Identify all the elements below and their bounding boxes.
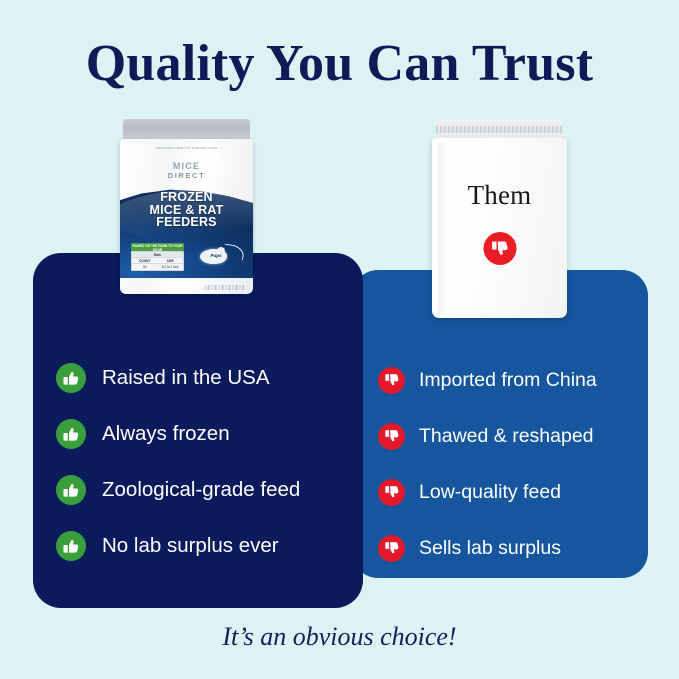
competitor-product-bag: Them: [432, 120, 567, 318]
brand-product-bag: CERTIFIED HEALTHY FOR REPTILES MICE DIRE…: [120, 119, 253, 294]
list-item: Zoological-grade feed: [56, 462, 356, 518]
list-item: Sells lab surplus: [378, 520, 648, 576]
infographic-canvas: Quality You Can Trust CERTIFIED HEALTHY …: [0, 0, 679, 679]
mouse-illustration: Pups: [196, 243, 244, 269]
bag-seal: [123, 119, 250, 141]
bag-spec-value-row: 50 1/2 to 1 inch: [132, 264, 183, 269]
competitor-bag-body: Them: [432, 138, 567, 318]
bag-product-line-1: FROZEN: [120, 191, 253, 204]
bag-spec-col-2: SIZE: [158, 259, 184, 263]
bag-spec-val-1: 50: [132, 265, 158, 269]
bag-product-line-3: FEEDERS: [120, 216, 253, 229]
thumbs-up-icon: [56, 419, 86, 449]
bag-product-name: FROZEN MICE & RAT FEEDERS: [120, 191, 253, 229]
bag-spec-table: Rats COUNT SIZE 50 1/2 to 1 inch: [131, 251, 184, 271]
bag-top-small-print: CERTIFIED HEALTHY FOR REPTILES: [120, 146, 253, 150]
barcode-icon: [204, 285, 244, 290]
bag-spec-col-1: COUNT: [132, 259, 158, 263]
footer-tagline: It’s an obvious choice!: [0, 622, 679, 652]
brand-feature-list: Raised in the USA Always frozen Zoologic…: [56, 350, 356, 574]
thumbs-down-icon: [378, 535, 405, 562]
bag-spec-val-2: 1/2 to 1 inch: [158, 265, 184, 269]
competitor-feature-list: Imported from China Thawed & reshaped Lo…: [378, 352, 648, 576]
bag-green-label: RAISED ON THE FARM TO YOUR DOOR: [131, 243, 184, 251]
brand-logo-line-2: DIRECT: [120, 171, 253, 180]
thumbs-down-icon: [378, 423, 405, 450]
competitor-bag-seal: [436, 120, 563, 140]
list-item: Imported from China: [378, 352, 648, 408]
page-title: Quality You Can Trust: [0, 34, 679, 93]
list-item-label: Low-quality feed: [419, 481, 561, 503]
list-item-label: Raised in the USA: [102, 367, 270, 389]
brand-logo: MICE DIRECT: [120, 161, 253, 180]
brand-logo-line-1: MICE: [120, 161, 253, 171]
list-item: Low-quality feed: [378, 464, 648, 520]
competitor-bag-label: Them: [432, 180, 567, 211]
list-item-label: No lab surplus ever: [102, 535, 279, 557]
list-item: Always frozen: [56, 406, 356, 462]
thumbs-up-icon: [56, 363, 86, 393]
thumbs-up-icon: [56, 475, 86, 505]
list-item-label: Zoological-grade feed: [102, 479, 300, 501]
list-item-label: Thawed & reshaped: [419, 425, 594, 447]
thumbs-down-icon: [378, 479, 405, 506]
thumbs-down-icon: [378, 367, 405, 394]
list-item-label: Always frozen: [102, 423, 230, 445]
thumbs-up-icon: [56, 531, 86, 561]
list-item-label: Imported from China: [419, 369, 597, 391]
mouse-size-label: Pups: [202, 253, 230, 258]
list-item: Raised in the USA: [56, 350, 356, 406]
thumbs-down-icon: [483, 232, 516, 265]
list-item: Thawed & reshaped: [378, 408, 648, 464]
list-item: No lab surplus ever: [56, 518, 356, 574]
bag-body: CERTIFIED HEALTHY FOR REPTILES MICE DIRE…: [120, 139, 253, 294]
list-item-label: Sells lab surplus: [419, 537, 561, 559]
